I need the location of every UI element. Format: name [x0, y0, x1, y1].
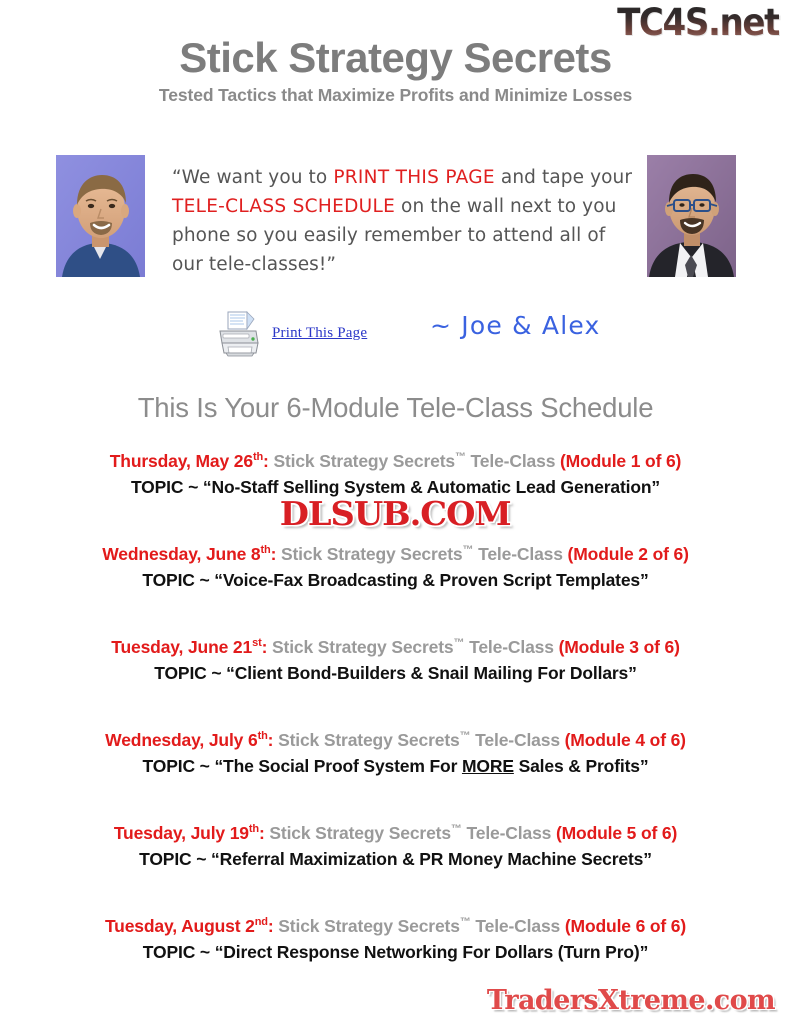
print-this-page-label: Print This Page: [272, 325, 367, 342]
module-topic-text: “The Social Proof System For: [214, 756, 462, 776]
module-date: Tuesday, August 2: [105, 916, 255, 936]
printer-icon: [214, 309, 264, 357]
module-topic-prefix: TOPIC ~: [142, 570, 214, 590]
module-topic-text: “Direct Response Networking For Dollars …: [215, 942, 648, 962]
module-topic: TOPIC ~ “Client Bond-Builders & Snail Ma…: [0, 660, 791, 686]
module-number-badge: (Module 1 of 6): [560, 451, 681, 471]
module-date: Tuesday, June 21: [111, 637, 252, 657]
quote-part-2: and tape your: [495, 167, 632, 188]
avatar-joe: [56, 155, 145, 277]
quote-highlight-schedule: TELE-CLASS SCHEDULE: [172, 196, 395, 217]
module-headline: Tuesday, July 19th: Stick Strategy Secre…: [0, 821, 791, 845]
module-product-name: Stick Strategy Secrets: [278, 916, 460, 936]
module-topic: TOPIC ~ “Voice-Fax Broadcasting & Proven…: [0, 567, 791, 593]
module-topic: TOPIC ~ “The Social Proof System For MOR…: [0, 753, 791, 779]
module-headline: Tuesday, June 21st: Stick Strategy Secre…: [0, 635, 791, 659]
module-headline: Wednesday, July 6th: Stick Strategy Secr…: [0, 728, 791, 752]
module-class-label: Tele-Class: [470, 730, 564, 750]
module-row: Tuesday, June 21st: Stick Strategy Secre…: [0, 635, 791, 728]
module-number-badge: (Module 4 of 6): [565, 730, 686, 750]
module-number-badge: (Module 2 of 6): [568, 544, 689, 564]
module-class-label: Tele-Class: [471, 916, 565, 936]
module-topic: TOPIC ~ “No-Staff Selling System & Autom…: [0, 474, 791, 500]
module-colon: :: [263, 451, 269, 471]
module-colon: :: [268, 730, 274, 750]
trademark-symbol: ™: [451, 823, 462, 835]
module-headline: Thursday, May 26th: Stick Strategy Secre…: [0, 449, 791, 473]
module-class-label: Tele-Class: [464, 637, 558, 657]
module-topic-text-tail: Sales & Profits”: [514, 756, 649, 776]
module-row: Wednesday, July 6th: Stick Strategy Secr…: [0, 728, 791, 821]
module-colon: :: [259, 823, 265, 843]
avatar-alex: [647, 155, 736, 277]
print-row: Print This Page ~ Joe & Alex: [0, 305, 791, 367]
module-class-label: Tele-Class: [473, 544, 567, 564]
module-headline: Tuesday, August 2nd: Stick Strategy Secr…: [0, 914, 791, 938]
module-topic: TOPIC ~ “Direct Response Networking For …: [0, 939, 791, 965]
module-row: Thursday, May 26th: Stick Strategy Secre…: [0, 449, 791, 542]
module-topic-prefix: TOPIC ~: [131, 477, 203, 497]
module-topic-prefix: TOPIC ~: [139, 849, 211, 869]
module-row: Wednesday, June 8th: Stick Strategy Secr…: [0, 542, 791, 635]
module-colon: :: [262, 637, 268, 657]
module-class-label: Tele-Class: [466, 451, 560, 471]
module-product-name: Stick Strategy Secrets: [273, 451, 455, 471]
trademark-symbol: ™: [460, 730, 471, 742]
schedule-heading: This Is Your 6-Module Tele-Class Schedul…: [0, 392, 791, 424]
module-topic-prefix: TOPIC ~: [143, 756, 215, 776]
module-topic-prefix: TOPIC ~: [143, 942, 215, 962]
quote-highlight-print: PRINT THIS PAGE: [333, 167, 495, 188]
print-this-page-button[interactable]: Print This Page: [214, 309, 367, 357]
module-product-name: Stick Strategy Secrets: [278, 730, 460, 750]
module-row: Tuesday, July 19th: Stick Strategy Secre…: [0, 821, 791, 914]
portrait-photo-icon: [647, 155, 736, 277]
module-date: Tuesday, July 19: [114, 823, 249, 843]
module-date-ordinal: st: [252, 637, 261, 649]
signature-joe-alex: ~ Joe & Alex: [430, 311, 601, 340]
quote-part-1: “We want you to: [172, 167, 333, 188]
module-topic-text: “Voice-Fax Broadcasting & Proven Script …: [214, 570, 648, 590]
masthead: Stick Strategy Secrets Tested Tactics th…: [0, 36, 791, 106]
page-tagline: Tested Tactics that Maximize Profits and…: [0, 85, 791, 106]
module-product-name: Stick Strategy Secrets: [281, 544, 463, 564]
module-date: Thursday, May 26: [110, 451, 253, 471]
module-date-ordinal: nd: [255, 916, 268, 928]
module-topic-prefix: TOPIC ~: [154, 663, 226, 683]
module-date-ordinal: th: [253, 451, 263, 463]
module-number-badge: (Module 5 of 6): [556, 823, 677, 843]
trademark-symbol: ™: [455, 451, 466, 463]
module-colon: :: [268, 916, 274, 936]
module-topic-emphasis: MORE: [462, 756, 514, 776]
tradersxtreme-footer-logo: TradersXtreme.com: [487, 985, 775, 1016]
module-list: Thursday, May 26th: Stick Strategy Secre…: [0, 449, 791, 1007]
module-number-badge: (Module 3 of 6): [559, 637, 680, 657]
module-topic-text: “Referral Maximization & PR Money Machin…: [211, 849, 652, 869]
module-topic-text: “Client Bond-Builders & Snail Mailing Fo…: [226, 663, 637, 683]
quote-text: “We want you to PRINT THIS PAGE and tape…: [172, 163, 634, 279]
portrait-photo-icon: [56, 155, 145, 277]
module-date: Wednesday, July 6: [105, 730, 257, 750]
module-class-label: Tele-Class: [462, 823, 556, 843]
module-topic: TOPIC ~ “Referral Maximization & PR Mone…: [0, 846, 791, 872]
module-headline: Wednesday, June 8th: Stick Strategy Secr…: [0, 542, 791, 566]
module-number-badge: (Module 6 of 6): [565, 916, 686, 936]
trademark-symbol: ™: [454, 637, 465, 649]
module-topic-text: “No-Staff Selling System & Automatic Lea…: [203, 477, 660, 497]
module-date-ordinal: th: [258, 730, 268, 742]
module-product-name: Stick Strategy Secrets: [272, 637, 454, 657]
module-colon: :: [271, 544, 277, 564]
trademark-symbol: ™: [460, 916, 471, 928]
page-title: Stick Strategy Secrets: [0, 36, 791, 81]
trademark-symbol: ™: [463, 544, 474, 556]
module-date-ordinal: th: [260, 544, 270, 556]
module-date-ordinal: th: [249, 823, 259, 835]
module-product-name: Stick Strategy Secrets: [269, 823, 451, 843]
module-date: Wednesday, June 8: [102, 544, 260, 564]
quote-band: “We want you to PRINT THIS PAGE and tape…: [0, 155, 791, 290]
